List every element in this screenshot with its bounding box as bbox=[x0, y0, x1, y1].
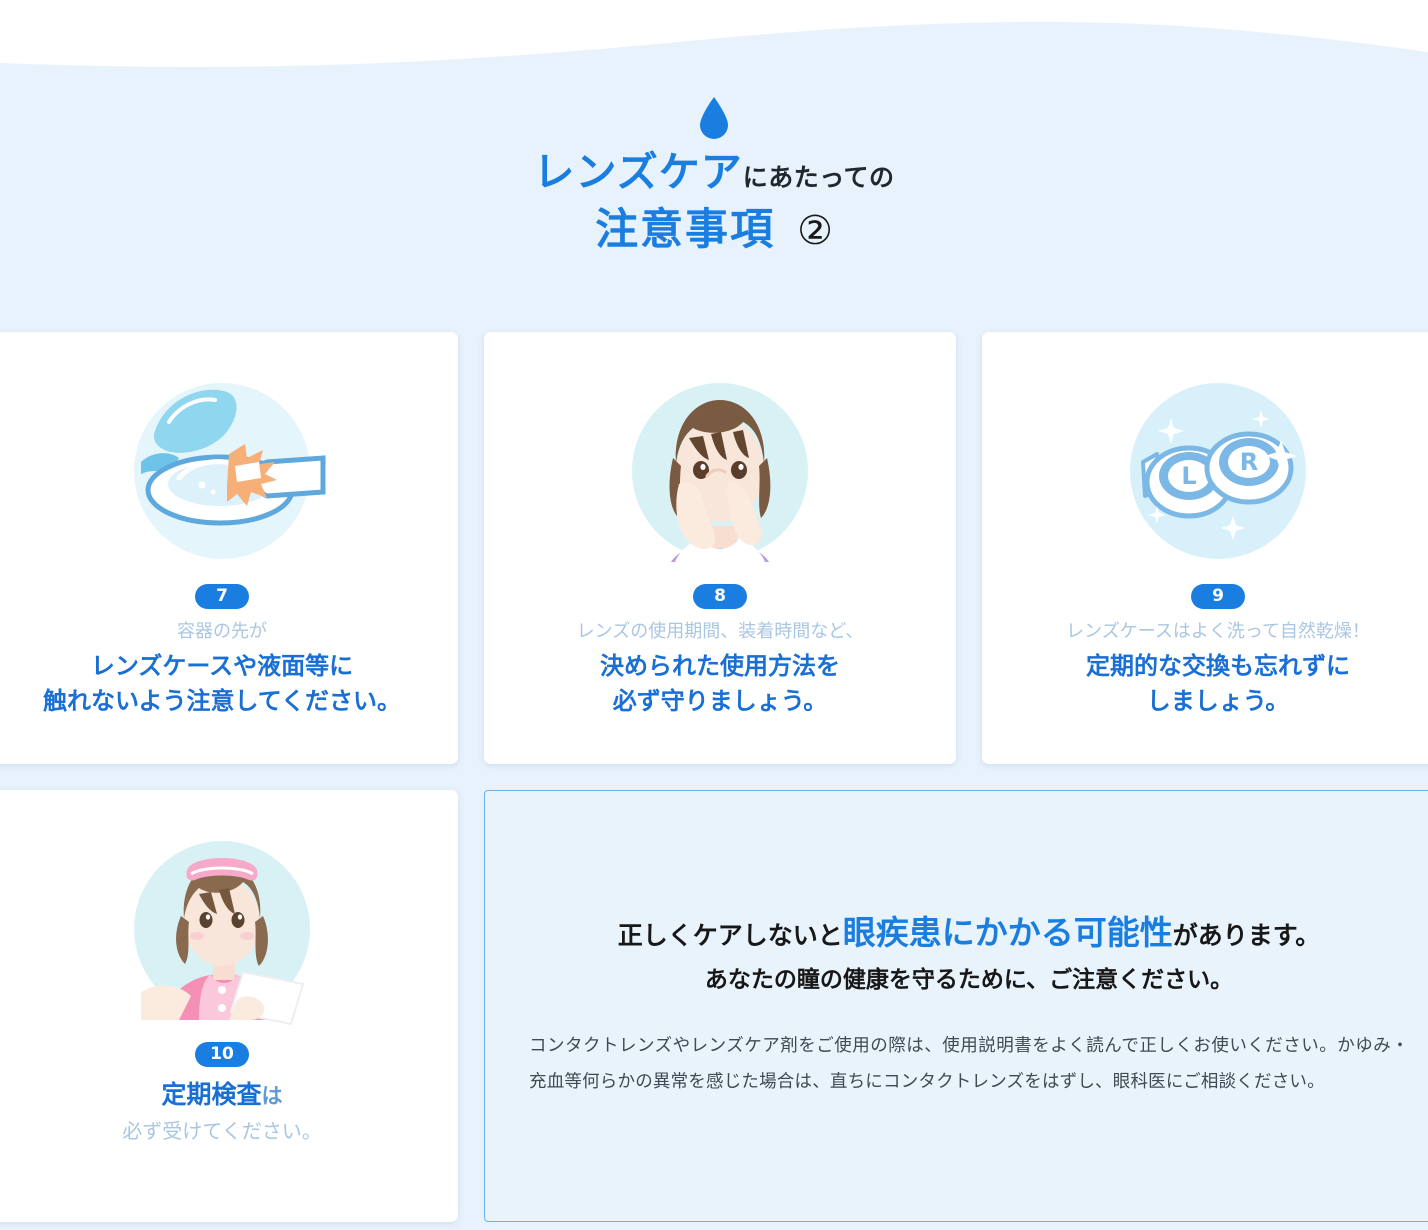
card-lead-text: レンズの使用期間、装着時間など、 bbox=[577, 620, 864, 643]
card-badge: 8 bbox=[693, 584, 747, 609]
heading-line-2: 注意事項 ② bbox=[0, 209, 1428, 252]
card-title-main: 定期検査 bbox=[161, 1081, 261, 1109]
heading-line-1: レンズケアにあたっての bbox=[0, 152, 1428, 193]
card-title: レンズケースや液面等に 触れないよう注意してください。 bbox=[43, 650, 401, 720]
water-drop-icon bbox=[697, 96, 731, 140]
notice-heading-highlight: 眼疾患にかかる可能性 bbox=[843, 914, 1173, 951]
card-lead-text: 容器の先が bbox=[177, 620, 267, 643]
care-tip-card-7[interactable]: 7 容器の先が レンズケースや液面等に 触れないよう注意してください。 bbox=[0, 332, 458, 764]
notice-heading: 正しくケアしないと眼疾患にかかる可能性があります。 あなたの瞳の健康を守るために… bbox=[529, 912, 1409, 994]
heading-title-text: 注意事項 bbox=[595, 209, 775, 252]
care-tip-card-9[interactable]: L R 9 レンズケースはよく洗って自然乾燥！ 定期的な交換も忘れずに しましょ… bbox=[982, 332, 1428, 764]
card-title: 定期検査は bbox=[161, 1078, 282, 1113]
heading-section-number: ② bbox=[797, 211, 833, 251]
card-title-line-2: 触れないよう注意してください。 bbox=[43, 685, 401, 720]
card-badge: 9 bbox=[1191, 584, 1245, 609]
card-title-line-1: 決められた使用方法を bbox=[600, 650, 840, 685]
care-tips-grid: 7 容器の先が レンズケースや液面等に 触れないよう注意してください。 bbox=[0, 332, 1428, 1222]
card-lead-text: レンズケースはよく洗って自然乾燥！ bbox=[1066, 620, 1370, 643]
solution-bottle-touching-lens-case-warning-icon bbox=[117, 366, 327, 576]
card-title-line-1: レンズケースや液面等に bbox=[43, 650, 401, 685]
card-title: 決められた使用方法を 必ず守りましょう。 bbox=[600, 650, 840, 720]
woman-inserting-contact-lens-icon bbox=[615, 366, 825, 576]
notice-heading-part2: があります。 bbox=[1173, 922, 1321, 950]
page-root: レンズケアにあたっての 注意事項 ② bbox=[0, 0, 1428, 1230]
eye-disease-warning-panel: 正しくケアしないと眼疾患にかかる可能性があります。 あなたの瞳の健康を守るために… bbox=[484, 790, 1428, 1222]
notice-heading-line-2: あなたの瞳の健康を守るために、ご注意ください。 bbox=[529, 965, 1409, 994]
clean-lens-case-lr-sparkle-icon: L R bbox=[1113, 366, 1323, 576]
card-badge: 10 bbox=[195, 1042, 249, 1067]
card-badge: 7 bbox=[195, 584, 249, 609]
card-title-suffix: は bbox=[262, 1085, 283, 1108]
notice-body-text: コンタクトレンズやレンズケア剤をご使用の際は、使用説明書をよく読んで正しくお使い… bbox=[529, 1028, 1409, 1100]
page-heading: レンズケアにあたっての 注意事項 ② bbox=[0, 96, 1428, 252]
nurse-with-clipboard-icon bbox=[117, 824, 327, 1034]
care-tip-card-10[interactable]: 10 定期検査は 必ず受けてください。 bbox=[0, 790, 458, 1222]
svg-text:R: R bbox=[1240, 448, 1258, 476]
svg-text:L: L bbox=[1181, 462, 1196, 490]
card-title-line-1: 定期的な交換も忘れずに bbox=[1086, 650, 1350, 685]
notice-heading-part1: 正しくケアしないと bbox=[618, 922, 843, 950]
heading-main-text: レンズケア bbox=[534, 149, 743, 195]
care-tip-card-8[interactable]: 8 レンズの使用期間、装着時間など、 決められた使用方法を 必ず守りましょう。 bbox=[484, 332, 956, 764]
card-title-line-2: 必ず守りましょう。 bbox=[600, 685, 840, 720]
card-title: 定期的な交換も忘れずに しましょう。 bbox=[1086, 650, 1350, 720]
card-subtitle: 必ず受けてください。 bbox=[122, 1119, 321, 1146]
notice-heading-line-1: 正しくケアしないと眼疾患にかかる可能性があります。 bbox=[529, 912, 1409, 953]
card-title-line-2: しましょう。 bbox=[1086, 685, 1350, 720]
heading-sub-text: にあたっての bbox=[743, 164, 895, 192]
